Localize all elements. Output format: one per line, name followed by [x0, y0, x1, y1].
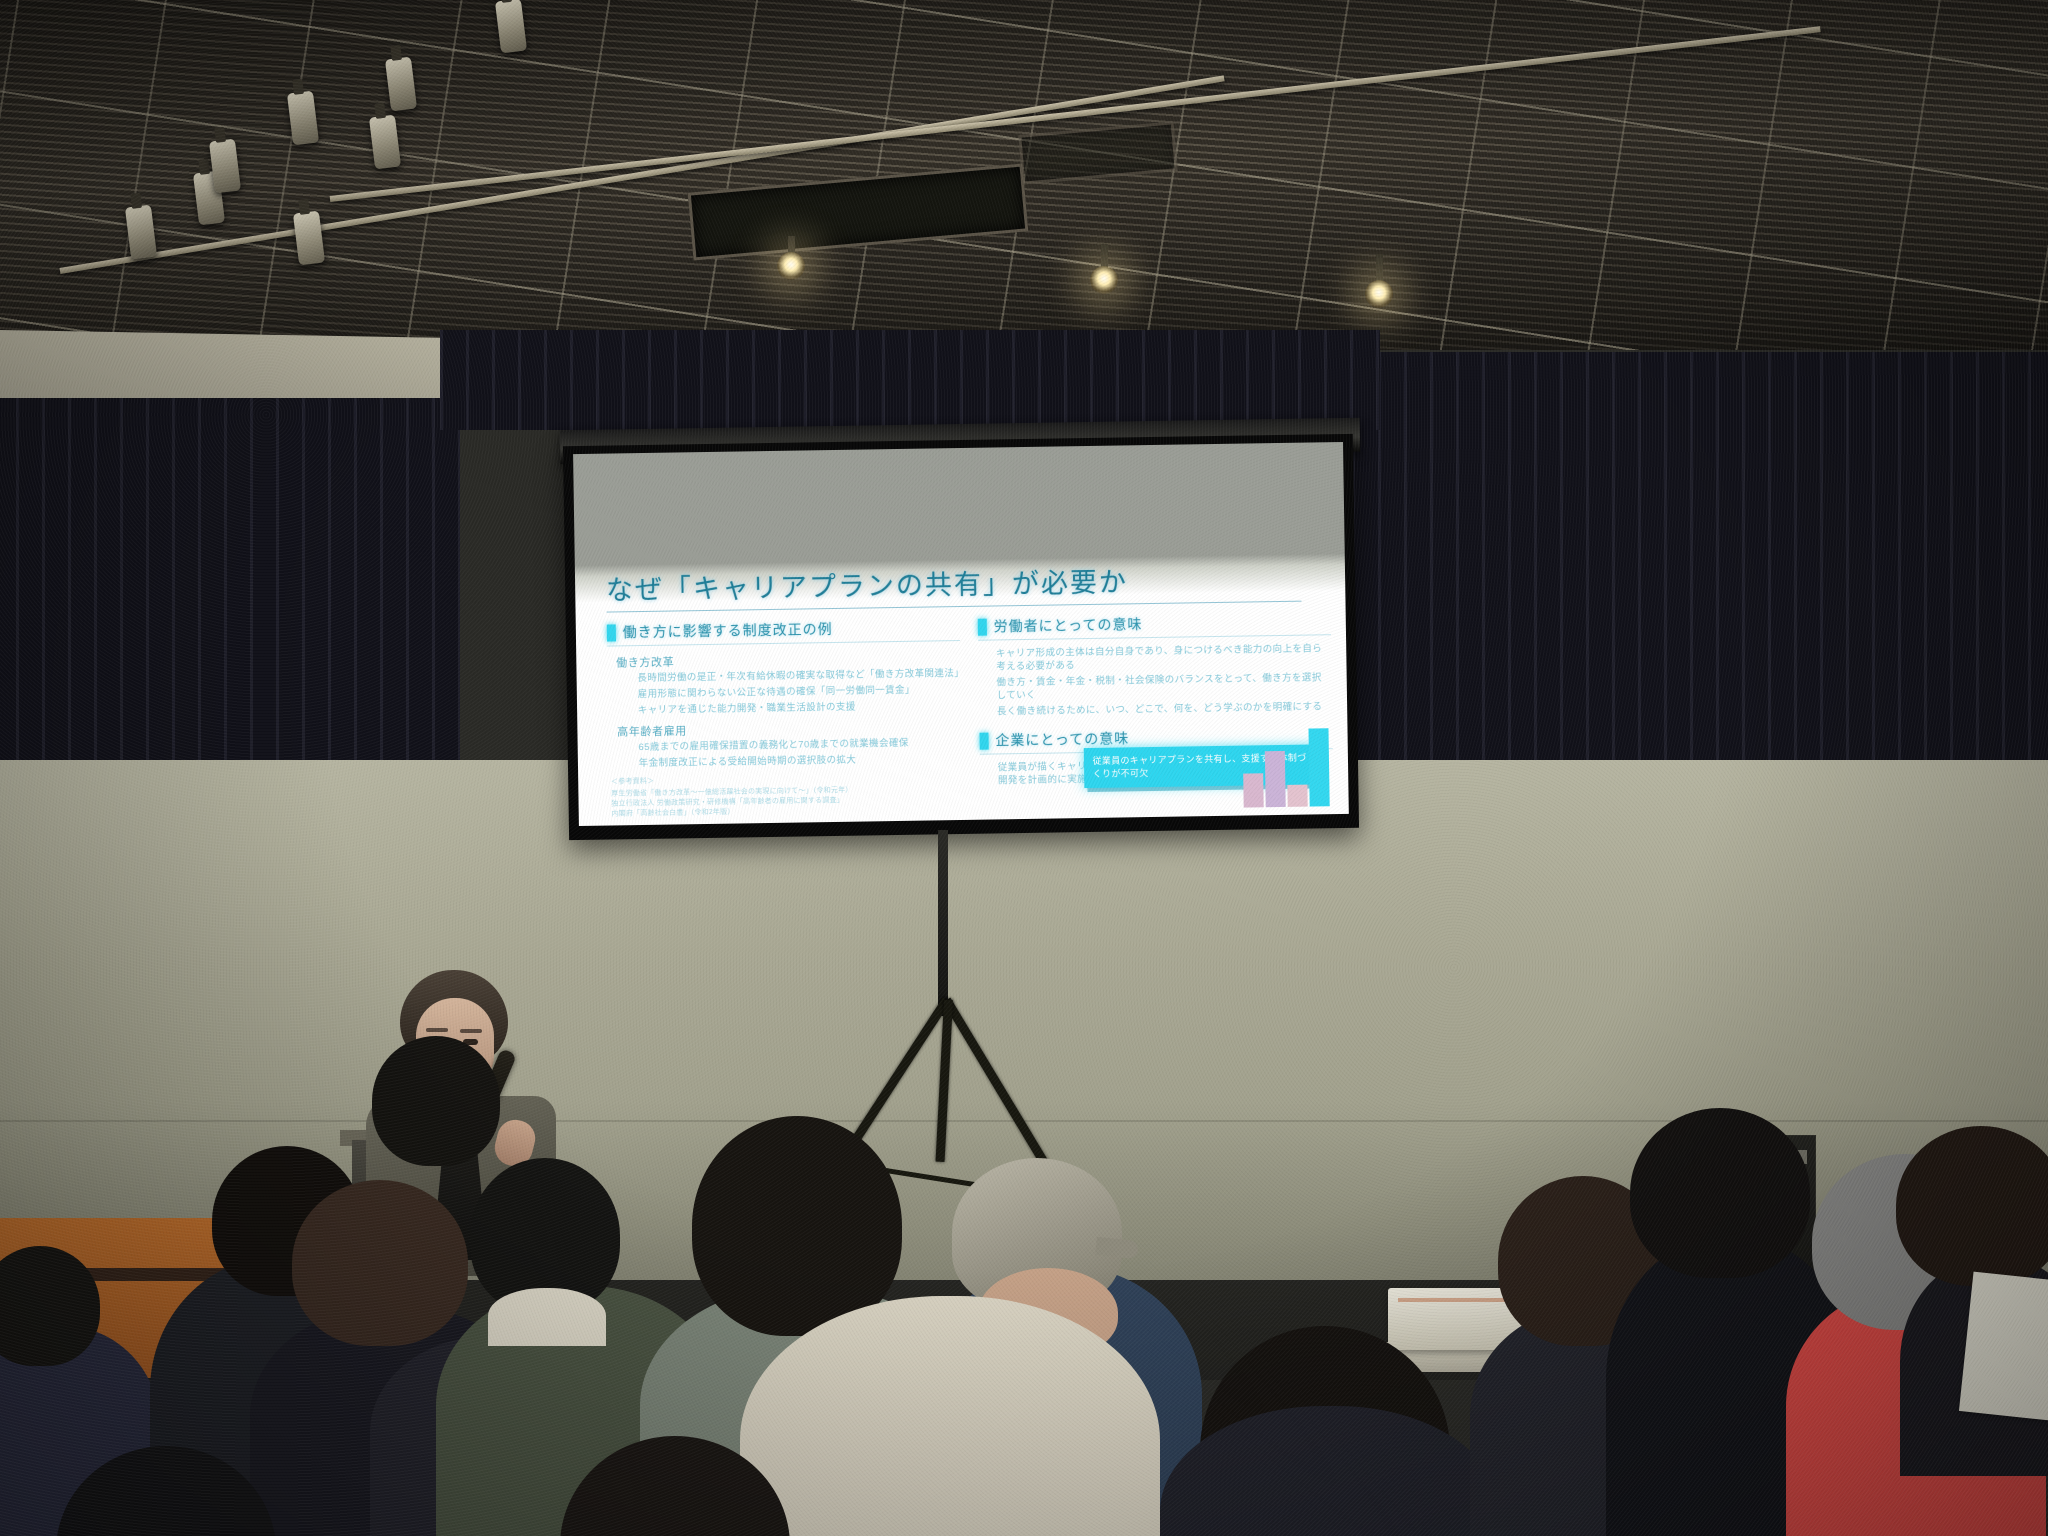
stage-front-panel: [0, 1218, 330, 1378]
bullet-item: キャリアを通じた能力開発・職業生活設計の支援: [638, 700, 961, 718]
presenter-brow: [460, 1029, 482, 1033]
group-label: 働き方改革: [616, 649, 960, 670]
cabinet-slot: [1785, 1150, 1807, 1164]
equipment-box: [1388, 1288, 1568, 1350]
section-bullet-icon: [979, 732, 988, 749]
ceiling: [0, 0, 2048, 350]
tripod-center-column: [938, 830, 948, 1016]
ceiling-lamp: [777, 252, 805, 280]
stage-panel-trim: [0, 1268, 330, 1281]
deco-bar: [1308, 728, 1329, 806]
equipment-cabinet: [1722, 1135, 1816, 1337]
deco-bar: [1264, 751, 1285, 807]
slide-column-left: 働き方に影響する制度改正の例 働き方改革 長時間労働の是正・年次有給休暇の確実な…: [607, 617, 963, 797]
audience-head: [56, 1446, 276, 1536]
footnote-line: 独立行政法人 労働政策研究・研修機構「高年齢者の雇用に関する調査」: [611, 797, 844, 808]
bullet-item: 年金制度改正による受給開始時期の選択肢の拡大: [639, 753, 962, 771]
slide-footnote: ＜参考資料＞ 厚生労働省「働き方改革～一億総活躍社会の実現に向けて～」（令和元年…: [611, 772, 974, 819]
footnote-line: 厚生労働省「働き方改革～一億総活躍社会の実現に向けて～」（令和元年）: [611, 786, 852, 797]
lecture-hall-photo: なぜ「キャリアプランの共有」が必要か 働き方に影響する制度改正の例 働き方改革 …: [0, 0, 2048, 1536]
bullet-item: 働き方・賃金・年金・税制・社会保険のバランスをとって、働き方を選択していく: [996, 672, 1331, 703]
presenter-face: [416, 998, 494, 1090]
bullet-item: キャリア形成の主体は自分自身であり、身につけるべき能力の向上を自ら考える必要があ…: [996, 644, 1331, 675]
lamp-stem: [1376, 254, 1383, 282]
presenter-brow: [426, 1028, 448, 1032]
presenter-mouth: [440, 1060, 462, 1070]
section-header-left: 働き方に影響する制度改正の例: [607, 617, 960, 643]
footnote-line: 内閣府「高齢社会白書」（令和2年版）: [611, 808, 734, 817]
stage-curtain-center-top: [440, 330, 1380, 430]
group-label: 高年齢者雇用: [617, 718, 961, 739]
ceiling-lamp: [1365, 280, 1393, 308]
audience-shoulders: [1160, 1406, 1500, 1536]
deco-bar: [1287, 785, 1307, 807]
section-title-left: 働き方に影響する制度改正の例: [623, 619, 833, 642]
bullet-item: 長時間労働の是正・年次有給休暇の確実な取得など「働き方改革関連法」: [637, 668, 960, 686]
slide-title: なぜ「キャリアプランの共有」が必要か: [606, 558, 1330, 608]
screen-surface: なぜ「キャリアプランの共有」が必要か 働き方に影響する制度改正の例 働き方改革 …: [573, 442, 1349, 826]
section-header-right: 労働者にとっての意味: [977, 612, 1330, 638]
box-label-stripe: [1398, 1298, 1518, 1302]
audience-head: [560, 1436, 790, 1536]
projection-screen: なぜ「キャリアプランの共有」が必要か 働き方に影響する制度改正の例 働き方改革 …: [563, 434, 1359, 840]
ceiling-lamp: [1090, 266, 1118, 294]
presenter: [360, 970, 590, 1270]
presenter-eye: [463, 1039, 478, 1045]
decorative-bar-graphic: [1242, 724, 1329, 807]
bullet-item: 雇用形態に関わらない公正な待遇の確保「同一労働同一賃金」: [638, 684, 961, 702]
bullet-item: 長く働き続けるために、いつ、どこで、何を、どう学ぶのかを明確にする: [997, 701, 1332, 719]
presentation-slide: なぜ「キャリアプランの共有」が必要か 働き方に影響する制度改正の例 働き方改革 …: [606, 558, 1334, 826]
section-title-workers: 労働者にとっての意味: [993, 614, 1142, 636]
section-bullet-icon: [977, 618, 986, 635]
presenter-eye: [429, 1038, 444, 1044]
bullet-item: 65歳までの雇用確保措置の義務化と70歳までの就業機会確保: [638, 737, 961, 755]
section-bullet-icon: [607, 624, 616, 641]
deco-bar: [1243, 773, 1264, 807]
